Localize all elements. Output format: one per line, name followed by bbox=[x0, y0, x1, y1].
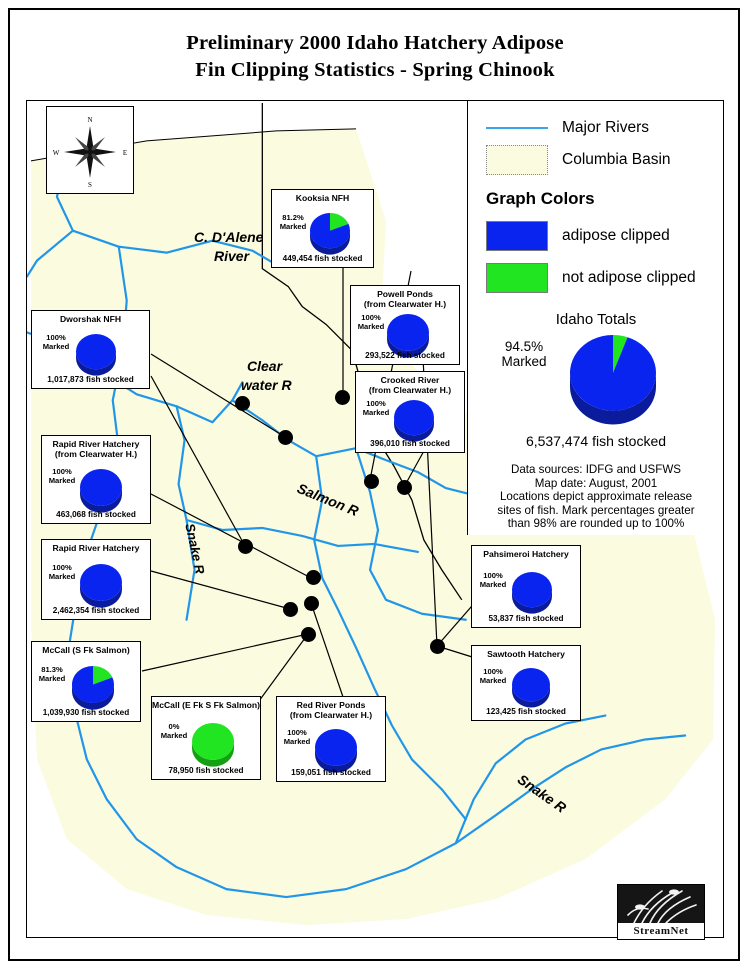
hatchery-title-line: Kooksia NFH bbox=[272, 194, 373, 204]
hatchery-callout-rapid-river-hatchery[interactable]: Rapid River Hatchery100%Marked2,462,354 … bbox=[41, 539, 151, 620]
hatchery-title-line: Pahsimeroi Hatchery bbox=[472, 550, 580, 560]
page-title: Preliminary 2000 Idaho Hatchery Adipose … bbox=[0, 30, 750, 84]
legend-item-clipped: adipose clipped bbox=[486, 221, 670, 251]
hatchery-title: Powell Ponds(from Clearwater H.) bbox=[351, 290, 459, 309]
hatchery-title: McCall (S Fk Salmon) bbox=[32, 646, 140, 656]
hatchery-mark-percent: 100%Marked bbox=[353, 314, 389, 331]
hatchery-title: Dworshak NFH bbox=[32, 315, 149, 325]
legend-clipped-label: adipose clipped bbox=[562, 227, 670, 245]
sources-line-4: sites of fish. Mark percentages greater bbox=[474, 504, 718, 518]
sources-line-5: than 98% are rounded up to 100% bbox=[474, 517, 718, 531]
hatchery-title-line: Dworshak NFH bbox=[32, 315, 149, 325]
hatchery-mark-percent: 100%Marked bbox=[44, 564, 80, 581]
hatchery-mark-percent: 81.3%Marked bbox=[34, 666, 70, 683]
legend-item-rivers: Major Rivers bbox=[486, 119, 649, 137]
hatchery-pie-chart bbox=[510, 570, 554, 621]
hatchery-title: Kooksia NFH bbox=[272, 194, 373, 204]
compass-rose: N S E W bbox=[46, 106, 134, 194]
streamnet-grass-icon bbox=[618, 885, 704, 925]
streamnet-logo: StreamNet bbox=[617, 884, 705, 940]
river-line-icon bbox=[486, 127, 548, 129]
basin-swatch-icon bbox=[486, 145, 548, 175]
hatchery-mark-percent: 100%Marked bbox=[38, 334, 74, 351]
hatchery-marked-word: Marked bbox=[44, 477, 80, 486]
river-label-cdalene-2: River bbox=[214, 248, 249, 264]
hatchery-marked-word: Marked bbox=[353, 323, 389, 332]
hatchery-fish-stocked: 159,051 fish stocked bbox=[277, 768, 385, 777]
hatchery-title: Red River Ponds(from Clearwater H.) bbox=[277, 701, 385, 720]
hatchery-title-line: (from Clearwater H.) bbox=[42, 450, 150, 460]
hatchery-marked-word: Marked bbox=[156, 732, 192, 741]
river-label-clearwater-1: Clear bbox=[247, 358, 282, 374]
hatchery-title: Crooked River(from Clearwater H.) bbox=[356, 376, 464, 395]
legend-item-basin: Columbia Basin bbox=[486, 145, 671, 175]
hatchery-title-line: (from Clearwater H.) bbox=[351, 300, 459, 310]
hatchery-marked-word: Marked bbox=[275, 223, 311, 232]
legend-rivers-label: Major Rivers bbox=[562, 119, 649, 137]
hatchery-callout-pahsimeroi-hatchery[interactable]: Pahsimeroi Hatchery100%Marked53,837 fish… bbox=[471, 545, 581, 628]
hatchery-callout-dworshak-nfh[interactable]: Dworshak NFH100%Marked1,017,873 fish sto… bbox=[31, 310, 150, 389]
hatchery-mark-percent: 100%Marked bbox=[475, 668, 511, 685]
hatchery-title: Rapid River Hatchery bbox=[42, 544, 150, 554]
hatchery-marked-word: Marked bbox=[475, 581, 511, 590]
hatchery-marked-word: Marked bbox=[38, 343, 74, 352]
hatchery-marked-word: Marked bbox=[34, 675, 70, 684]
hatchery-mark-percent: 81.2%Marked bbox=[275, 214, 311, 231]
hatchery-fish-stocked: 293,522 fish stocked bbox=[351, 351, 459, 360]
hatchery-mark-percent: 0%Marked bbox=[156, 723, 192, 740]
legend-item-not-clipped: not adipose clipped bbox=[486, 263, 696, 293]
hatchery-callout-mccall-s-fk-salmon[interactable]: McCall (S Fk Salmon)81.3%Marked1,039,930… bbox=[31, 641, 141, 722]
not-clipped-color-swatch bbox=[486, 263, 548, 293]
idaho-totals-heading: Idaho Totals bbox=[468, 311, 724, 328]
hatchery-fish-stocked: 123,425 fish stocked bbox=[472, 707, 580, 716]
hatchery-fish-stocked: 463,068 fish stocked bbox=[42, 510, 150, 519]
idaho-totals-percent: 94.5% Marked bbox=[488, 339, 560, 369]
sources-line-2: Map date: August, 2001 bbox=[474, 477, 718, 491]
hatchery-title-line: McCall (S Fk Salmon) bbox=[32, 646, 140, 656]
hatchery-title: McCall (E Fk S Fk Salmon) bbox=[152, 701, 260, 711]
idaho-totals-marked-word: Marked bbox=[488, 354, 560, 369]
hatchery-callout-crooked-river[interactable]: Crooked River(from Clearwater H.)100%Mar… bbox=[355, 371, 465, 453]
streamnet-wordmark: StreamNet bbox=[618, 923, 704, 939]
hatchery-fish-stocked: 78,950 fish stocked bbox=[152, 766, 260, 775]
hatchery-title-line: Sawtooth Hatchery bbox=[472, 650, 580, 660]
hatchery-fish-stocked: 2,462,354 fish stocked bbox=[42, 606, 150, 615]
hatchery-callout-kooksia-nfh[interactable]: Kooksia NFH81.2%Marked449,454 fish stock… bbox=[271, 189, 374, 268]
compass-north-label: N bbox=[87, 116, 92, 124]
sources-line-1: Data sources: IDFG and USFWS bbox=[474, 463, 718, 477]
hatchery-callout-mccall-e-fk-s-fk-salmon[interactable]: McCall (E Fk S Fk Salmon)0%Marked78,950 … bbox=[151, 696, 261, 780]
hatchery-title-line: McCall (E Fk S Fk Salmon) bbox=[152, 701, 260, 711]
compass-west-label: W bbox=[53, 149, 60, 157]
compass-rose-icon: N S E W bbox=[47, 107, 133, 193]
hatchery-marked-word: Marked bbox=[279, 738, 315, 747]
hatchery-marked-word: Marked bbox=[475, 677, 511, 686]
legend-basin-label: Columbia Basin bbox=[562, 151, 671, 169]
sources-line-3: Locations depict approximate release bbox=[474, 490, 718, 504]
river-label-cdalene-1: C. D'Alene bbox=[194, 229, 263, 245]
hatchery-marked-word: Marked bbox=[44, 573, 80, 582]
hatchery-title-line: Rapid River Hatchery bbox=[42, 544, 150, 554]
compass-east-label: E bbox=[123, 149, 127, 157]
hatchery-fish-stocked: 449,454 fish stocked bbox=[272, 254, 373, 263]
hatchery-title: Sawtooth Hatchery bbox=[472, 650, 580, 660]
legend-panel: Major Rivers Columbia Basin Graph Colors… bbox=[467, 101, 723, 535]
title-line-1: Preliminary 2000 Idaho Hatchery Adipose bbox=[0, 30, 750, 57]
hatchery-fish-stocked: 396,010 fish stocked bbox=[356, 439, 464, 448]
idaho-totals-percent-value: 94.5% bbox=[488, 339, 560, 354]
hatchery-title: Rapid River Hatchery(from Clearwater H.) bbox=[42, 440, 150, 459]
hatchery-marked-word: Marked bbox=[358, 409, 394, 418]
hatchery-title-line: (from Clearwater H.) bbox=[277, 711, 385, 721]
title-line-2: Fin Clipping Statistics - Spring Chinook bbox=[0, 57, 750, 84]
legend-not-clipped-label: not adipose clipped bbox=[562, 269, 696, 287]
hatchery-fish-stocked: 1,039,930 fish stocked bbox=[32, 708, 140, 717]
hatchery-fish-stocked: 1,017,873 fish stocked bbox=[32, 375, 149, 384]
idaho-totals-fish-stocked: 6,537,474 fish stocked bbox=[468, 433, 724, 449]
clipped-color-swatch bbox=[486, 221, 548, 251]
hatchery-mark-percent: 100%Marked bbox=[279, 729, 315, 746]
hatchery-callout-powell-ponds[interactable]: Powell Ponds(from Clearwater H.)100%Mark… bbox=[350, 285, 460, 365]
idaho-totals-pie-chart bbox=[568, 333, 658, 431]
data-sources-note: Data sources: IDFG and USFWS Map date: A… bbox=[474, 463, 718, 531]
hatchery-callout-red-river-ponds[interactable]: Red River Ponds(from Clearwater H.)100%M… bbox=[276, 696, 386, 782]
hatchery-mark-percent: 100%Marked bbox=[475, 572, 511, 589]
graph-colors-heading: Graph Colors bbox=[486, 189, 595, 209]
compass-south-label: S bbox=[88, 181, 92, 189]
hatchery-mark-percent: 100%Marked bbox=[358, 400, 394, 417]
hatchery-callout-sawtooth-hatchery[interactable]: Sawtooth Hatchery100%Marked123,425 fish … bbox=[471, 645, 581, 721]
river-label-clearwater-2: water R bbox=[241, 377, 292, 393]
hatchery-mark-percent: 100%Marked bbox=[44, 468, 80, 485]
hatchery-fish-stocked: 53,837 fish stocked bbox=[472, 614, 580, 623]
hatchery-title: Pahsimeroi Hatchery bbox=[472, 550, 580, 560]
hatchery-title-line: (from Clearwater H.) bbox=[356, 386, 464, 396]
hatchery-callout-rapid-river-clearwater[interactable]: Rapid River Hatchery(from Clearwater H.)… bbox=[41, 435, 151, 524]
